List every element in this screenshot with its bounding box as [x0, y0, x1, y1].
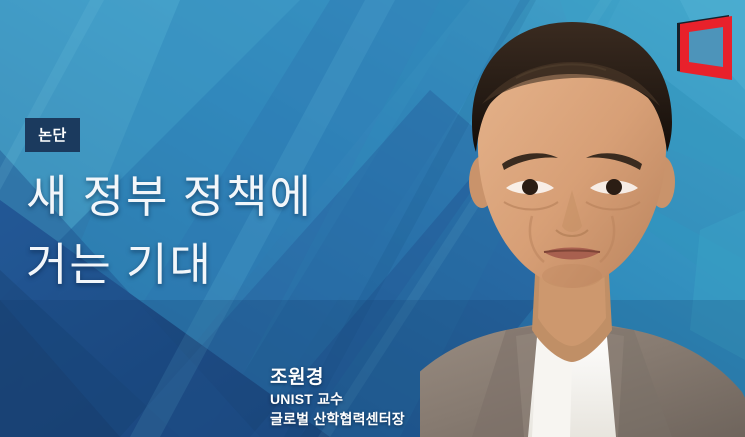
author-credit: 조원경 UNIST 교수 글로벌 산학협력센터장	[270, 366, 405, 429]
opinion-banner-card: 논단 새 정부 정책에 거는 기대 조원경 UNIST 교수 글로벌 산학협력센…	[0, 0, 745, 437]
red-quote-frame-icon	[672, 12, 736, 82]
red-quote-frame-logo[interactable]	[672, 12, 736, 82]
author-title: 글로벌 산학협력센터장	[270, 409, 405, 429]
headline-line-1: 새 정부 정책에	[26, 163, 426, 231]
author-name: 조원경	[270, 366, 405, 389]
category-badge-label: 논단	[38, 128, 67, 143]
headline: 새 정부 정책에 거는 기대	[26, 163, 426, 299]
author-affiliation: UNIST 교수	[270, 389, 405, 409]
category-badge: 논단	[25, 118, 80, 152]
headline-line-2: 거는 기대	[26, 231, 426, 299]
